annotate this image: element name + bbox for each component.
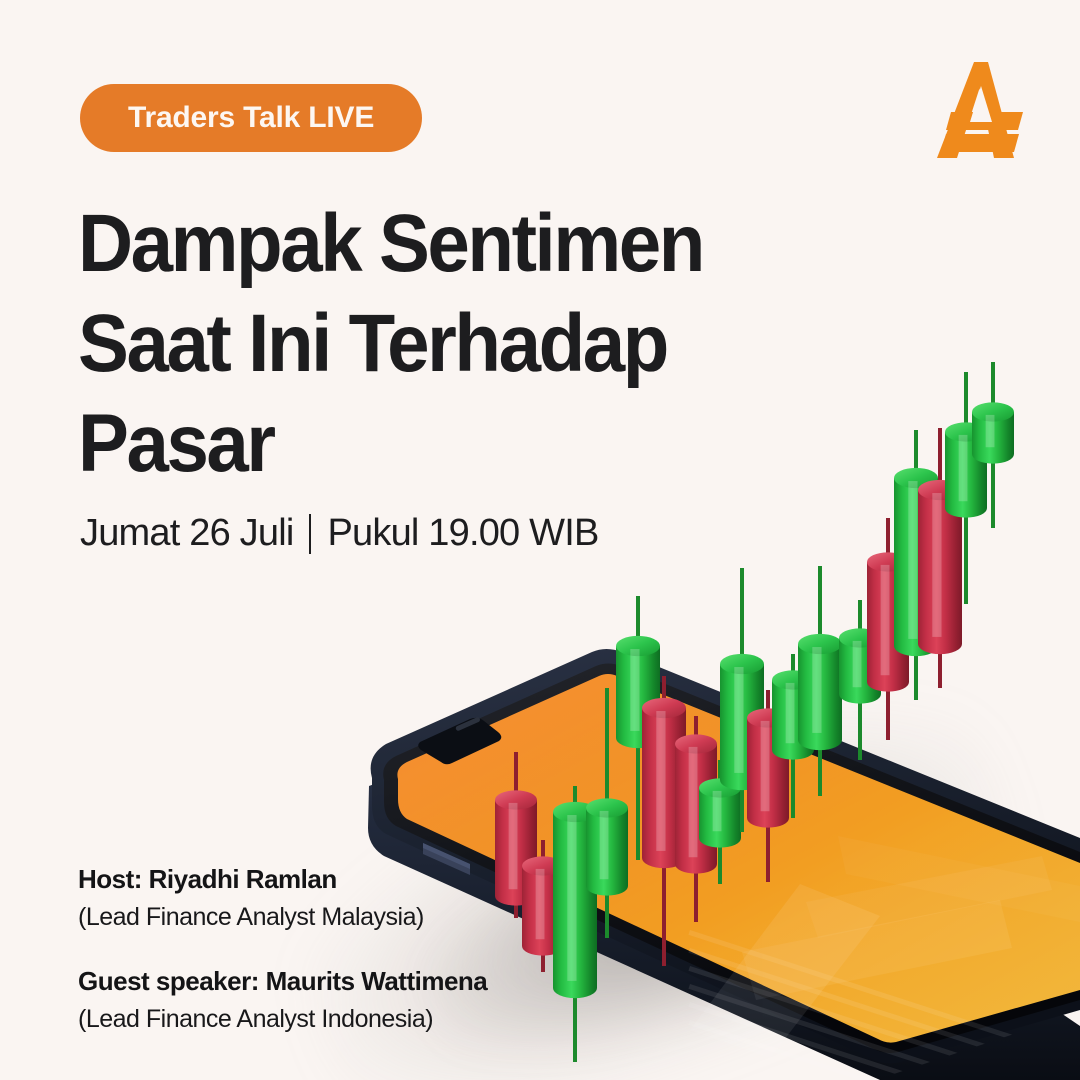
candle-body [553,812,597,998]
candlestick-10-down [747,690,789,882]
candlestick-5-up [616,596,660,860]
candle-body [972,412,1014,464]
candle-body [894,478,938,656]
speaker-guest: Guest speaker: Maurits Wattimena (Lead F… [78,964,548,1036]
headline-line-1: Dampak Sentimen [78,194,785,294]
candlestick-7-down [675,716,717,922]
schedule-date: Jumat 26 Juli [80,512,293,555]
candle-cap [798,634,842,654]
candle-wick [858,600,862,760]
candle-cap [642,698,686,718]
candlestick-14-down [867,518,909,740]
letter-a-logo-icon [924,56,1036,164]
candle-wick [636,596,640,860]
candle-highlight [986,415,995,447]
live-badge-label: Traders Talk LIVE [128,101,374,135]
candle-body [867,562,909,692]
candlestick-13-up [839,600,881,760]
candle-wick [791,654,795,818]
candle-highlight [812,647,821,733]
speaker-guest-role: (Lead Finance Analyst Indonesia) [78,1002,548,1036]
candle-cap [616,636,660,656]
schedule-line: Jumat 26 Juli Pukul 19.00 WIB [80,512,599,555]
candlestick-15-up [894,430,938,700]
candle-body [699,788,741,848]
candle-body [747,718,789,828]
candle-body [616,646,660,748]
screen-watermark [688,836,1080,1080]
candle-highlight [656,711,665,851]
candle-cap [839,628,881,647]
candle-body [918,490,962,654]
candlestick-18-up [972,362,1014,528]
candle-wick [991,362,995,528]
candle-body [675,744,717,874]
candle-body [945,432,987,518]
candle-cap [586,798,628,817]
candle-body [586,808,628,896]
candle-wick [766,690,770,882]
candle-cap [894,468,938,488]
candlestick-8-up [699,760,741,884]
candle-highlight [630,649,639,731]
candle-body [642,708,686,868]
candle-highlight [734,667,743,773]
candlestick-11-up [772,654,814,818]
candle-wick [740,568,744,832]
speaker-host-role: (Lead Finance Analyst Malaysia) [78,900,548,934]
candle-cap [495,790,537,809]
candlestick-6-down [642,676,686,966]
candle-cap [945,422,987,441]
candlestick-17-up [945,372,987,604]
candle-highlight [786,683,795,743]
candle-cap [699,778,741,797]
candlestick-9-up [720,568,764,832]
candle-highlight [567,815,576,981]
headline-line-3: Pasar [78,394,785,494]
candle-wick [964,372,968,604]
speaker-list: Host: Riyadhi Ramlan (Lead Finance Analy… [78,862,548,1036]
candlestick-16-down [918,428,962,688]
candle-cap [747,708,789,727]
candlestick-3-up [553,786,597,1062]
candle-wick [914,430,918,700]
candle-wick [605,688,609,938]
schedule-time: Pukul 19.00 WIB [327,512,598,555]
speaker-host-name: Host: Riyadhi Ramlan [78,862,548,896]
candle-highlight [853,641,862,687]
candle-highlight [713,791,722,831]
phone-earpiece [455,716,481,731]
candle-wick [818,566,822,796]
candle-body [839,638,881,704]
candle-highlight [959,435,968,501]
candle-wick [662,676,666,966]
candle-highlight [689,747,698,857]
candle-wick [938,428,942,688]
schedule-separator [309,514,311,554]
live-badge[interactable]: Traders Talk LIVE [80,84,422,152]
candle-highlight [908,481,917,639]
candle-body [720,664,764,790]
candle-body [798,644,842,750]
candle-cap [918,480,962,500]
speaker-guest-name: Guest speaker: Maurits Wattimena [78,964,548,998]
candle-body [772,680,814,760]
poster-canvas: Traders Talk LIVE Dampak Sentimen Saat I… [0,0,1080,1080]
candlestick-4-up [586,688,628,938]
candle-cap [675,734,717,753]
candle-highlight [881,565,890,675]
candle-highlight [600,811,609,879]
candlestick-12-up [798,566,842,796]
candle-wick [886,518,890,740]
speaker-host: Host: Riyadhi Ramlan (Lead Finance Analy… [78,862,548,934]
candle-cap [553,802,597,822]
candle-cap [772,670,814,689]
candle-wick [694,716,698,922]
candle-wick [718,760,722,884]
page-title: Dampak Sentimen Saat Ini Terhadap Pasar [78,194,838,494]
candle-highlight [761,721,770,811]
candle-cap [867,552,909,571]
candle-cap [972,402,1014,421]
headline-line-2: Saat Ini Terhadap [78,294,785,394]
candle-cap [720,654,764,674]
phone-notch [418,718,501,764]
candle-highlight [932,493,941,637]
candle-wick [573,786,577,1062]
